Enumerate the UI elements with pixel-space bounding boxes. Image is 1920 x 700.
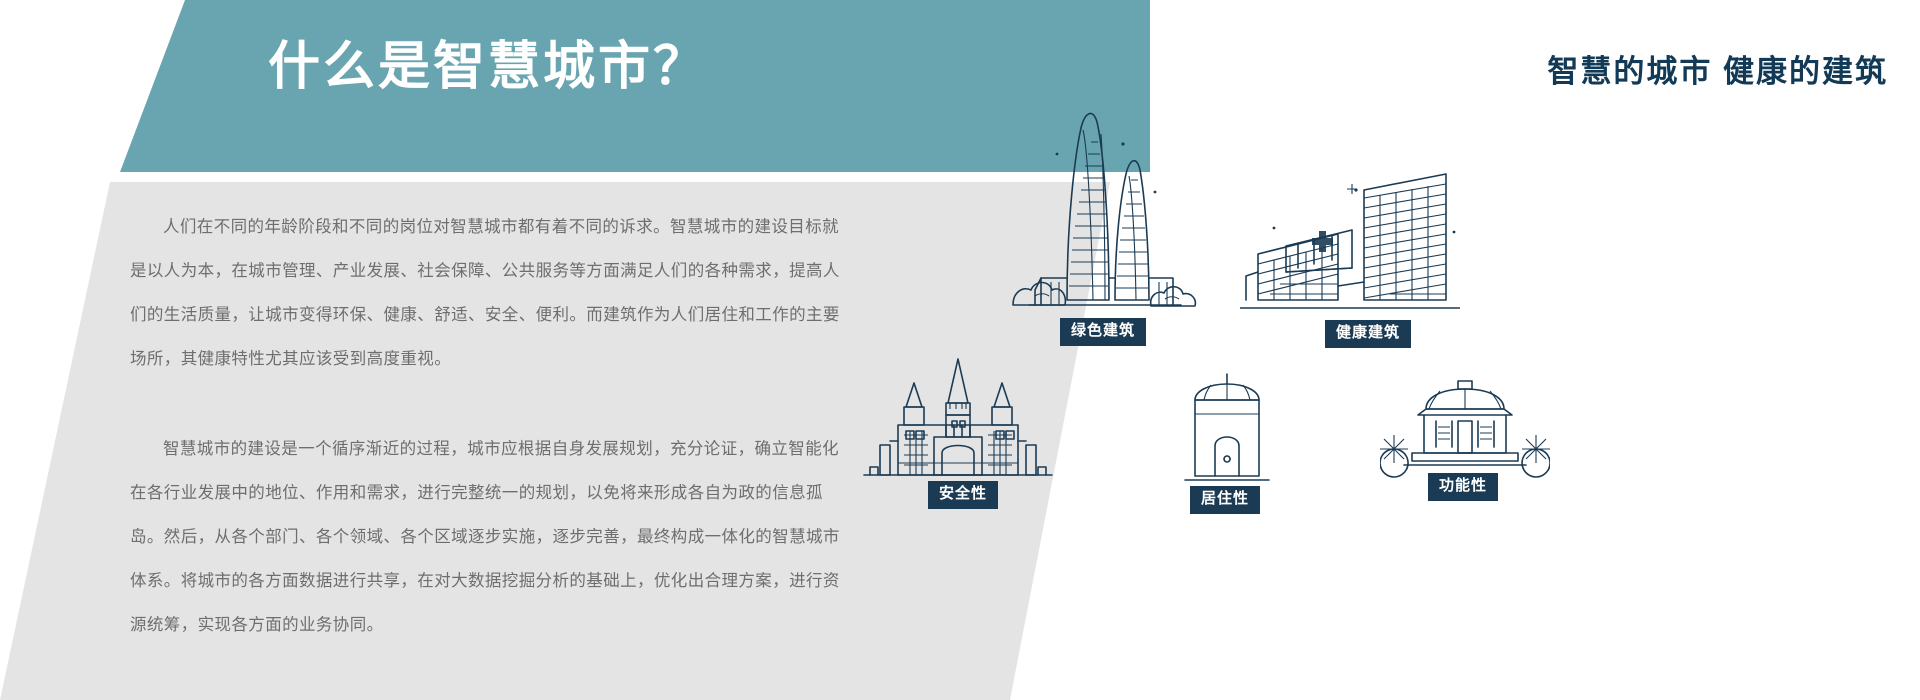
illustration-healthy-building: 健康建筑: [1240, 168, 1460, 318]
house-tent-icon: [1175, 368, 1280, 498]
body-copy: 人们在不同的年龄阶段和不同的岗位对智慧城市都有着不同的诉求。智慧城市的建设目标就…: [130, 205, 850, 647]
badge-green-building: 绿色建筑: [1060, 318, 1146, 346]
illustration-livability: 居住性: [1175, 368, 1280, 498]
header-tagline: 智慧的城市 健康的建筑: [1547, 46, 1888, 91]
illustration-safety: 安全性: [850, 345, 1065, 505]
slide-root: 什么是智慧城市？ 智慧的城市 健康的建筑 人们在不同的年龄阶段和不同的岗位对智慧…: [0, 0, 1920, 700]
twin-towers-icon: [1005, 100, 1205, 315]
badge-healthy-building: 健康建筑: [1325, 320, 1411, 348]
paragraph-2: 智慧城市的建设是一个循序渐近的过程，城市应根据自身发展规划，充分论证，确立智能化…: [130, 427, 850, 647]
badge-functionality: 功能性: [1428, 473, 1498, 501]
badge-livability: 居住性: [1190, 486, 1260, 514]
illustration-green-building: 绿色建筑: [1005, 100, 1205, 315]
badge-safety: 安全性: [928, 481, 998, 509]
hospital-complex-icon: [1240, 168, 1460, 318]
illustration-functionality: 功能性: [1380, 375, 1550, 500]
paragraph-1: 人们在不同的年龄阶段和不同的岗位对智慧城市都有着不同的诉求。智慧城市的建设目标就…: [130, 205, 850, 381]
page-title: 什么是智慧城市？: [268, 36, 708, 98]
illustration-group: 绿色建筑: [850, 90, 1920, 630]
